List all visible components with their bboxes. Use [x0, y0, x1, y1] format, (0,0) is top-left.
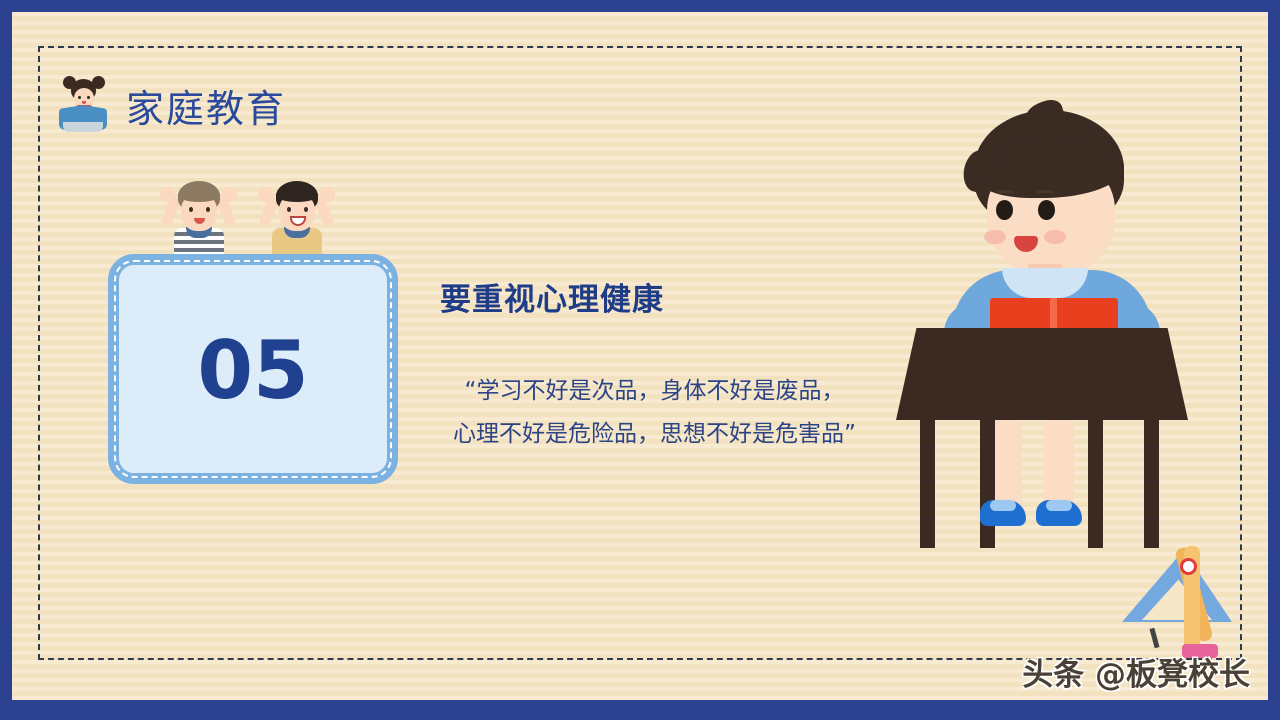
cheering-boy-right	[250, 175, 342, 261]
slide-header: 家庭教育	[54, 74, 286, 136]
page-title: 要重视心理健康	[440, 274, 664, 319]
cheering-boy-left	[152, 175, 244, 261]
watermark: 头条 @板凳校长	[1022, 649, 1250, 694]
header-title: 家庭教育	[126, 78, 286, 133]
quote-text: “学习不好是次品，身体不好是废品， 心理不好是危险品，思想不好是危害品”	[407, 370, 902, 455]
quote-line-1: “学习不好是次品，身体不好是废品，	[407, 370, 902, 413]
section-number-card: 05	[108, 254, 398, 484]
section-number: 05	[197, 331, 308, 411]
stationery-illustration	[1122, 532, 1268, 662]
cheering-boys-illustration	[152, 175, 372, 261]
girl-reading-book-icon	[54, 74, 112, 136]
slide-canvas: 家庭教育 05 要重视心理健康 “学习不好是次品，身体不好是废品， 心理不好是危…	[12, 12, 1268, 700]
quote-line-2: 心理不好是危险品，思想不好是危害品”	[407, 413, 902, 456]
boy-reading-at-desk-illustration	[892, 102, 1222, 552]
